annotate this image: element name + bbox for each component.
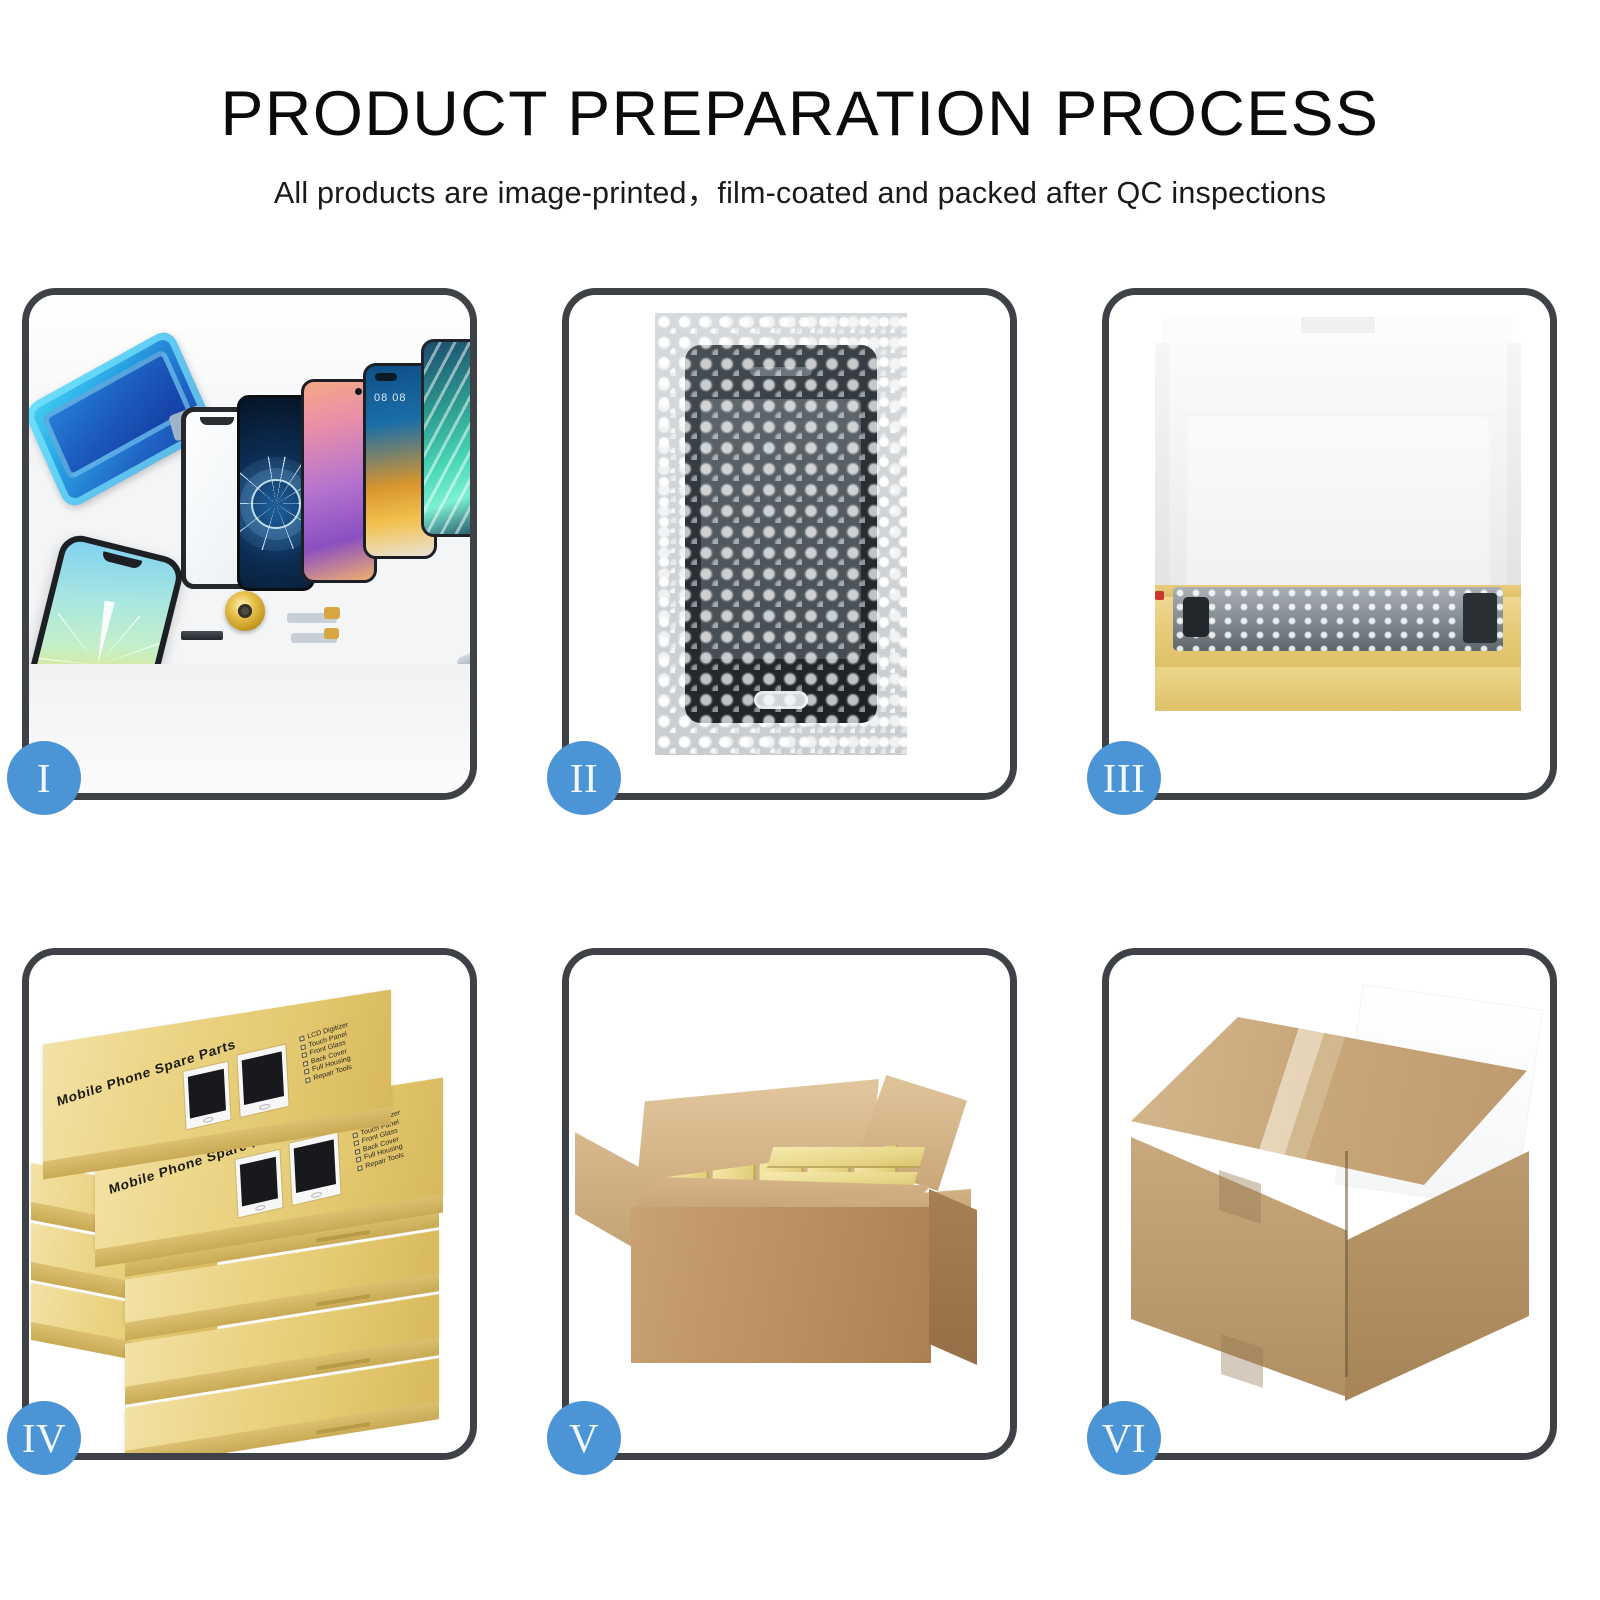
step-1-image: 08 08 xyxy=(29,295,470,793)
box-lid-inner-face xyxy=(1185,413,1491,609)
step-panel-1: 08 08 xyxy=(22,288,477,800)
camera-cover-part xyxy=(243,747,269,769)
display-clock-text: 08 08 xyxy=(374,392,407,404)
carton-vertical-edge xyxy=(1345,1151,1348,1377)
step-panel-4: Mobile Phone Spare Parts LCD Digitizer T… xyxy=(22,948,477,1460)
box-lid-tab xyxy=(1301,317,1375,333)
step-panel-6: VI xyxy=(1102,948,1557,1460)
bga-chip-part xyxy=(227,667,269,709)
step-badge-5: V xyxy=(547,1401,621,1475)
retail-box-thumbnail xyxy=(236,1150,283,1217)
flex-cable-part-a xyxy=(287,613,337,623)
step-badge-1: I xyxy=(7,741,81,815)
retail-box-thumbnail xyxy=(289,1133,340,1205)
red-marker-sticker xyxy=(1155,591,1164,600)
step-badge-4: IV xyxy=(7,1401,81,1475)
product-preparation-infographic: PRODUCT PREPARATION PROCESS All products… xyxy=(0,0,1600,1600)
teal-display-part xyxy=(421,339,470,537)
checkbox-icon xyxy=(356,1156,362,1162)
step-panel-3: III xyxy=(1102,288,1557,800)
process-step-grid: 08 08 xyxy=(22,288,1578,1460)
retail-box-side xyxy=(125,1401,439,1453)
checkbox-icon xyxy=(300,1044,306,1050)
speaker-part xyxy=(239,727,273,740)
checkbox-icon xyxy=(302,1052,308,1058)
retail-box-checklist: LCD Digitizer Touch Panel Front Glass Ba… xyxy=(299,1021,355,1084)
step-badge-6: VI xyxy=(1087,1401,1161,1475)
step-2-image xyxy=(569,295,1010,793)
checkbox-icon xyxy=(305,1077,311,1083)
side-button-part xyxy=(220,738,232,761)
step-6-image xyxy=(1109,955,1550,1453)
tweezers-tool xyxy=(415,663,470,711)
checkbox-icon xyxy=(355,1148,361,1154)
step-panel-2: II xyxy=(562,288,1017,800)
page-title: PRODUCT PREPARATION PROCESS xyxy=(0,82,1600,146)
flex-cable-part-c xyxy=(161,686,185,739)
step-4-image: Mobile Phone Spare Parts LCD Digitizer T… xyxy=(29,955,470,1453)
microphone-part xyxy=(181,631,223,640)
flex-cable-part-b xyxy=(291,633,337,643)
bubble-wrapped-screen xyxy=(569,295,1010,793)
retail-box-thumbnail xyxy=(184,1062,231,1129)
retail-box-thumbnail xyxy=(237,1045,288,1117)
checkbox-icon xyxy=(354,1140,360,1146)
checkbox-icon xyxy=(299,1036,305,1042)
vibrator-part xyxy=(281,725,301,745)
open-inner-box xyxy=(1109,295,1550,793)
taptic-coil-part xyxy=(225,591,265,631)
bubble-film-overlay xyxy=(655,313,907,755)
sealed-master-carton xyxy=(1109,955,1550,1453)
bubble-film xyxy=(655,313,907,755)
wrapped-screen-in-box xyxy=(1173,587,1503,651)
parts-collage: 08 08 xyxy=(29,295,470,793)
page-subtitle: All products are image-printed，film-coat… xyxy=(0,168,1600,212)
checkbox-icon xyxy=(304,1068,310,1074)
step-panel-5: V xyxy=(562,948,1017,1460)
screws-part xyxy=(414,731,460,761)
carton-body xyxy=(631,1207,931,1363)
header: PRODUCT PREPARATION PROCESS All products… xyxy=(0,0,1600,212)
checkbox-icon xyxy=(357,1165,363,1171)
step-3-image xyxy=(1109,295,1550,793)
checkbox-icon xyxy=(303,1060,309,1066)
back-housing-part xyxy=(284,670,455,793)
step-5-image xyxy=(569,955,1010,1453)
step-badge-3: III xyxy=(1087,741,1161,815)
flex-cable-part-d xyxy=(280,676,339,695)
checkbox-icon xyxy=(352,1132,358,1138)
box-tray-front xyxy=(1155,667,1521,711)
box-lid xyxy=(1165,317,1511,609)
sim-tray-part xyxy=(195,743,208,769)
open-master-carton xyxy=(569,955,1010,1453)
retail-box-stack: Mobile Phone Spare Parts LCD Digitizer T… xyxy=(29,955,470,1453)
step-badge-2: II xyxy=(547,741,621,815)
